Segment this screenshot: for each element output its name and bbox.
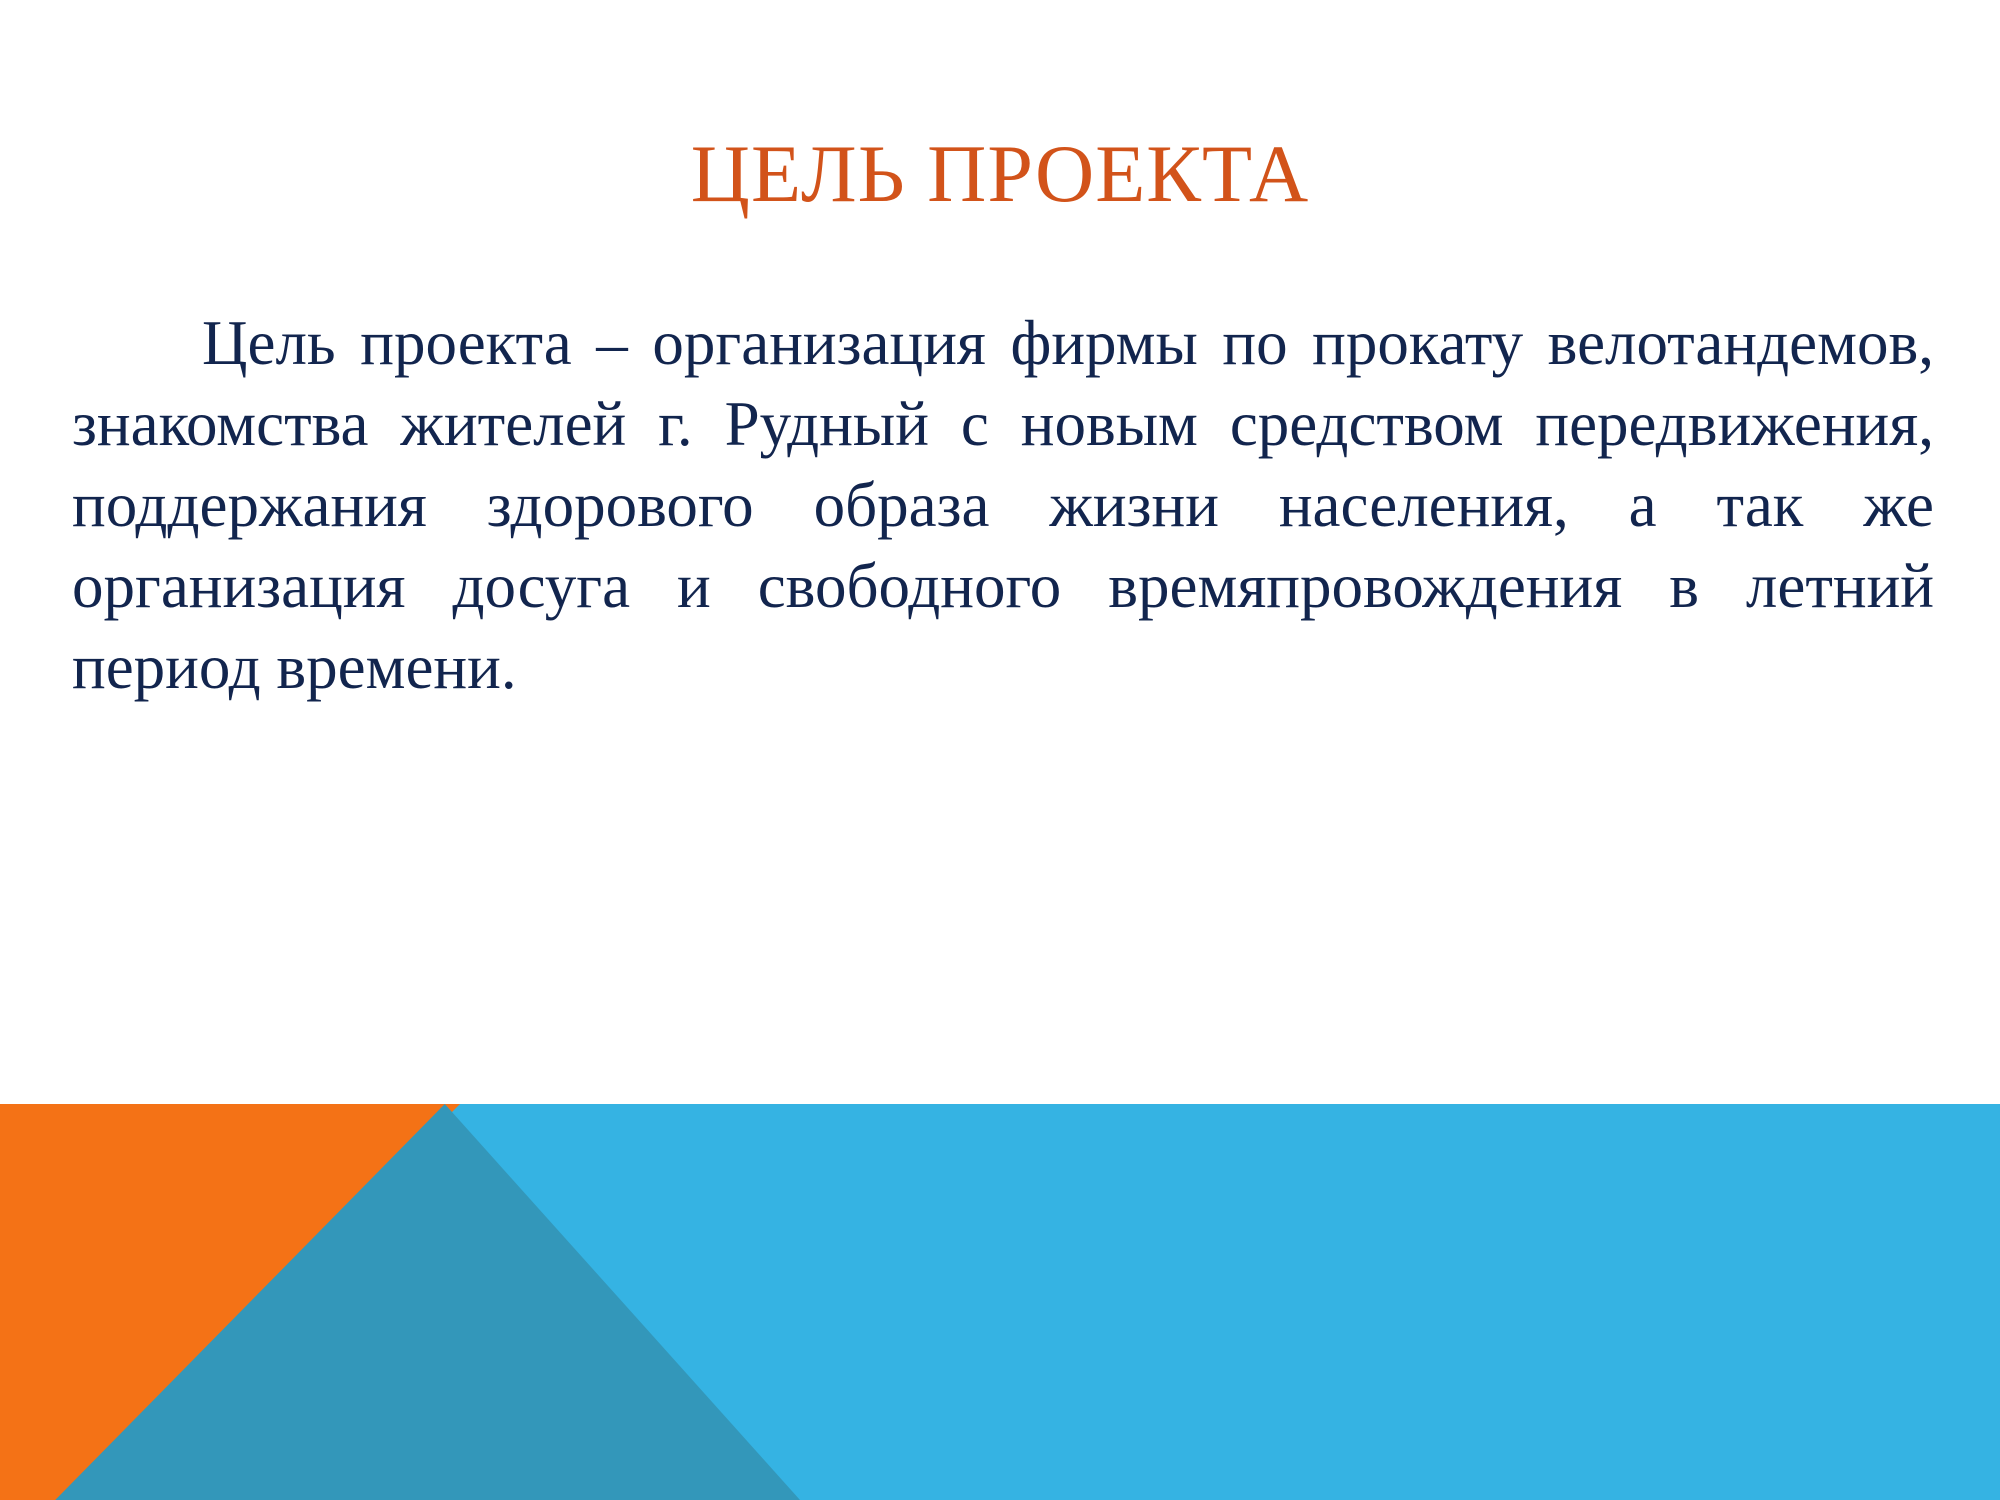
presentation-slide: ЦЕЛЬ ПРОЕКТА Цель проекта – организация …	[0, 0, 2000, 1500]
bottom-decorative-band	[0, 1104, 2000, 1500]
slide-body-paragraph: Цель проекта – организация фирмы по прок…	[72, 303, 1934, 708]
slide-body-block: Цель проекта – организация фирмы по прок…	[72, 240, 1934, 771]
slide-title: ЦЕЛЬ ПРОЕКТА	[0, 133, 2000, 215]
